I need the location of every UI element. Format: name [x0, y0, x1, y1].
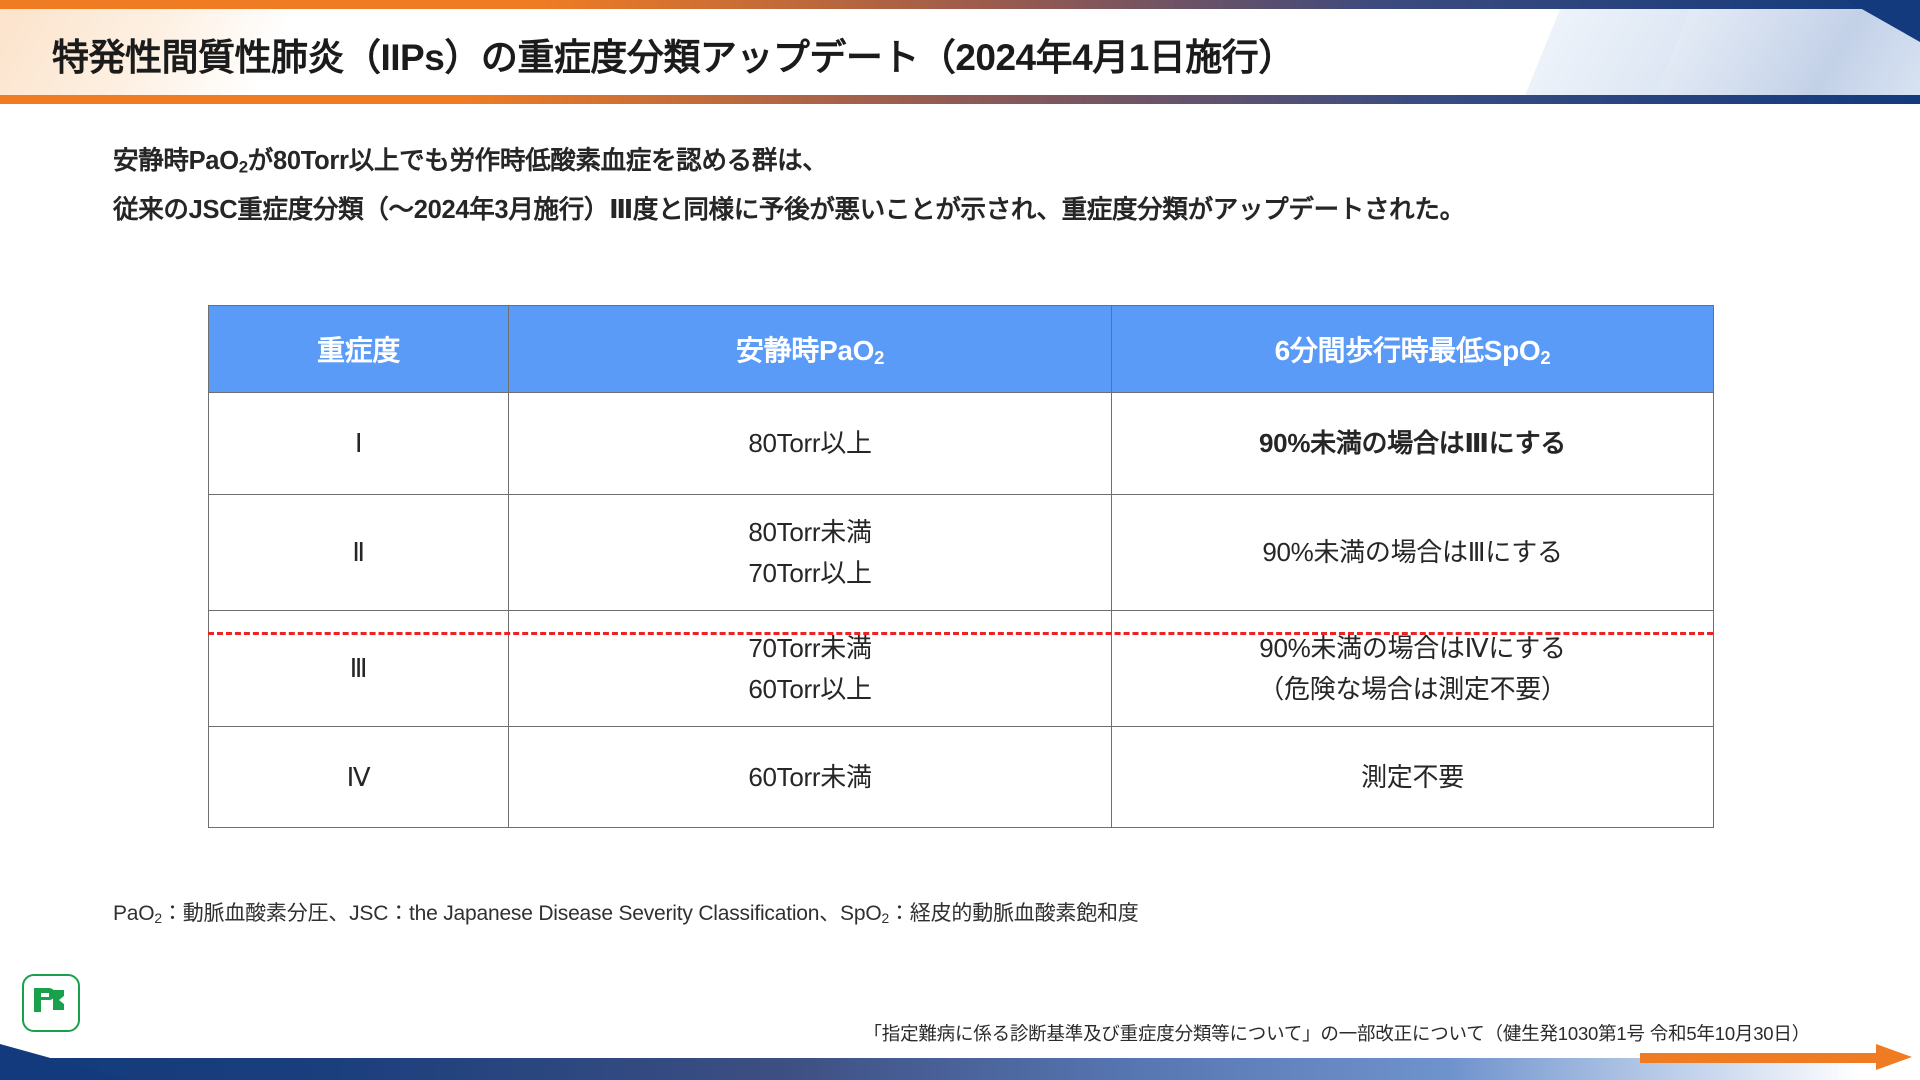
footer-orange-arrow-tail: [1640, 1053, 1880, 1063]
cell-pao2-line-2: 70Torr以上: [510, 553, 1110, 594]
cell-pao2-line-1: 80Torr以上: [748, 428, 871, 458]
cell-spo2-line-2: （危険な場合は測定不要）: [1113, 669, 1712, 710]
cell-spo2: 90%未満の場合はⅣにする （危険な場合は測定不要）: [1112, 611, 1714, 727]
red-dashed-divider: [208, 632, 1713, 635]
header-top-rule: [0, 0, 1920, 9]
cell-pao2-line-2: 60Torr以上: [510, 669, 1110, 710]
cell-spo2: 90%未満の場合はⅢにする: [1112, 393, 1714, 495]
cell-spo2-line-1: 測定不要: [1361, 762, 1464, 792]
severity-classification-table: 重症度 安静時PaO2 6分間歩行時最低SpO2 Ⅰ 80Torr以上 90%未…: [208, 305, 1714, 828]
lead-line-1: 安静時PaO2が80Torr以上でも労作時低酸素血症を認める群は、: [113, 140, 1465, 189]
lead-line-2: 従来のJSC重症度分類（〜2024年3月施行）Ⅲ度と同様に予後が悪いことが示され…: [113, 189, 1465, 232]
abbr-part-3: ：経皮的動脈血酸素飽和度: [889, 902, 1139, 925]
column-header-spo2-subscript: 2: [1540, 347, 1550, 368]
column-header-pao2-subscript: 2: [874, 347, 884, 368]
cell-pao2-line-1: 60Torr未満: [748, 762, 871, 792]
table-row: Ⅱ 80Torr未満 70Torr以上 90%未満の場合はⅢにする: [209, 495, 1714, 611]
column-header-resting-pao2: 安静時PaO2: [509, 306, 1112, 393]
cell-spo2-line-1: 90%未満の場合はⅢにする: [1259, 428, 1566, 458]
cell-pao2-line-1: 80Torr未満: [510, 512, 1110, 553]
cell-spo2: 90%未満の場合はⅢにする: [1112, 495, 1714, 611]
abbr-subscript-1: 2: [154, 910, 162, 926]
cell-pao2: 80Torr以上: [509, 393, 1112, 495]
column-header-6mwt-spo2: 6分間歩行時最低SpO2: [1112, 306, 1714, 393]
lead-line-1-part-a: 安静時PaO: [113, 147, 239, 175]
lead-paragraph: 安静時PaO2が80Torr以上でも労作時低酸素血症を認める群は、 従来のJSC…: [113, 140, 1465, 232]
cell-grade: Ⅰ: [209, 393, 509, 495]
table-row: Ⅳ 60Torr未満 測定不要: [209, 727, 1714, 828]
abbr-subscript-2: 2: [881, 910, 889, 926]
abbr-part-2: ：動脈血酸素分圧、JSC：the Japanese Disease Severi…: [162, 902, 882, 925]
column-header-pao2-text: 安静時PaO: [736, 335, 874, 366]
cell-pao2: 80Torr未満 70Torr以上: [509, 495, 1112, 611]
table-row: Ⅲ 70Torr未満 60Torr以上 90%未満の場合はⅣにする （危険な場合…: [209, 611, 1714, 727]
cell-spo2-line-1: 90%未満の場合はⅢにする: [1262, 537, 1562, 567]
column-header-spo2-text: 6分間歩行時最低SpO: [1275, 335, 1541, 366]
footer-orange-arrow-icon: [1876, 1044, 1912, 1070]
abbr-part-1: PaO: [113, 902, 154, 925]
slide-footer-band: [0, 1044, 1920, 1080]
lead-line-1-part-b: が80Torr以上でも労作時低酸素血症を認める群は、: [248, 147, 828, 175]
cell-grade: Ⅱ: [209, 495, 509, 611]
cell-pao2: 70Torr未満 60Torr以上: [509, 611, 1112, 727]
table-row: Ⅰ 80Torr以上 90%未満の場合はⅢにする: [209, 393, 1714, 495]
footer-blue-gradient-bar: [0, 1058, 1860, 1080]
table-header-row: 重症度 安静時PaO2 6分間歩行時最低SpO2: [209, 306, 1714, 393]
pc-logo-icon: [22, 974, 80, 1032]
cell-grade: Ⅲ: [209, 611, 509, 727]
footer-navy-wedge: [0, 1044, 130, 1080]
column-header-grade: 重症度: [209, 306, 509, 393]
lead-line-1-subscript: 2: [239, 158, 248, 177]
header-bottom-rule: [0, 95, 1920, 104]
page-title: 特発性間質性肺炎（IIPs）の重症度分類アップデート（2024年4月1日施行）: [52, 27, 1295, 81]
cell-grade: Ⅳ: [209, 727, 509, 828]
source-citation: 「指定難病に係る診断基準及び重症度分類等について」の一部改正について（健生発10…: [863, 1020, 1810, 1046]
cell-spo2: 測定不要: [1112, 727, 1714, 828]
header-navy-corner-notch: [1846, 0, 1920, 42]
abbreviation-note: PaO2：動脈血酸素分圧、JSC：the Japanese Disease Se…: [113, 897, 1139, 927]
cell-pao2: 60Torr未満: [509, 727, 1112, 828]
header-orange-tab: [18, 98, 58, 104]
